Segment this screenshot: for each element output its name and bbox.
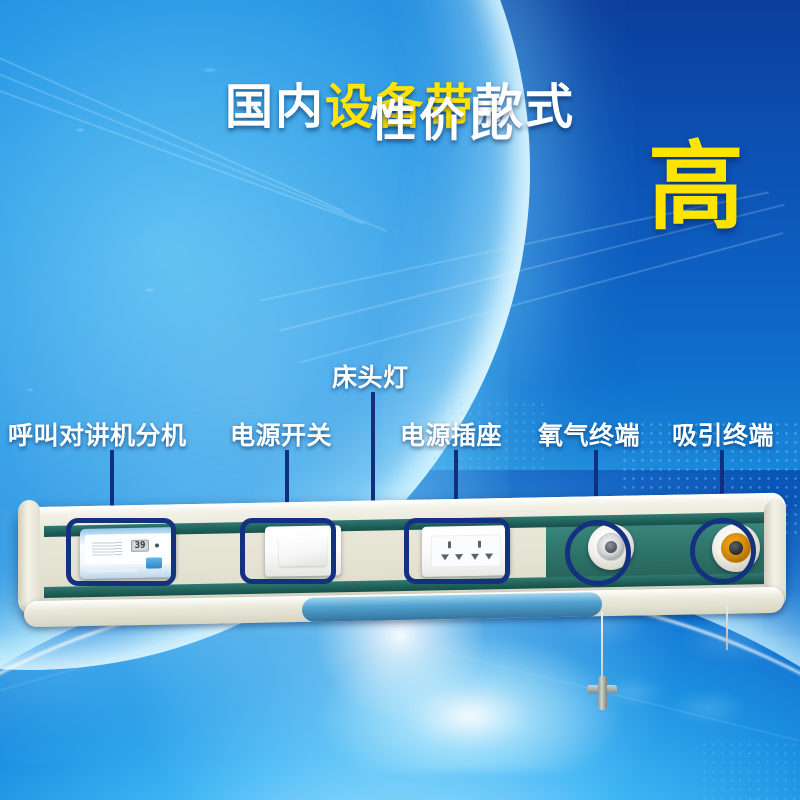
callout-label-lamp: 床头灯 bbox=[332, 358, 409, 394]
headline-big-word: 高 bbox=[648, 140, 744, 236]
callout-label-intercom: 呼叫对讲机分机 bbox=[8, 416, 187, 452]
dot-grid-bottom bbox=[700, 740, 800, 800]
headline-part-1: 国内 bbox=[225, 81, 325, 134]
highlight-circle-suction bbox=[690, 518, 756, 584]
callout-label-oxygen: 氧气终端 bbox=[538, 416, 640, 452]
promo-banner: 国内设备带款式 性价比 高 呼叫对讲机分机 电源开关 床头灯 电源插座 氧气终端… bbox=[0, 0, 800, 800]
highlight-box-intercom bbox=[66, 518, 176, 586]
highlight-circle-oxygen bbox=[565, 520, 631, 586]
panel-lamp-diffuser bbox=[302, 592, 602, 622]
highlight-box-switch bbox=[240, 518, 336, 584]
callout-label-switch: 电源开关 bbox=[230, 416, 332, 452]
pull-cord-handle[interactable] bbox=[587, 676, 617, 710]
callout-label-suction: 吸引终端 bbox=[672, 416, 774, 452]
callout-label-socket: 电源插座 bbox=[400, 416, 502, 452]
cord-handle-cross-v bbox=[598, 676, 607, 710]
panel-end-cap-left bbox=[18, 500, 40, 608]
highlight-box-socket bbox=[404, 518, 510, 584]
suction-drain-tube bbox=[726, 606, 728, 650]
pull-cord[interactable] bbox=[601, 612, 603, 684]
headline-line-2: 性价比 bbox=[370, 84, 517, 150]
